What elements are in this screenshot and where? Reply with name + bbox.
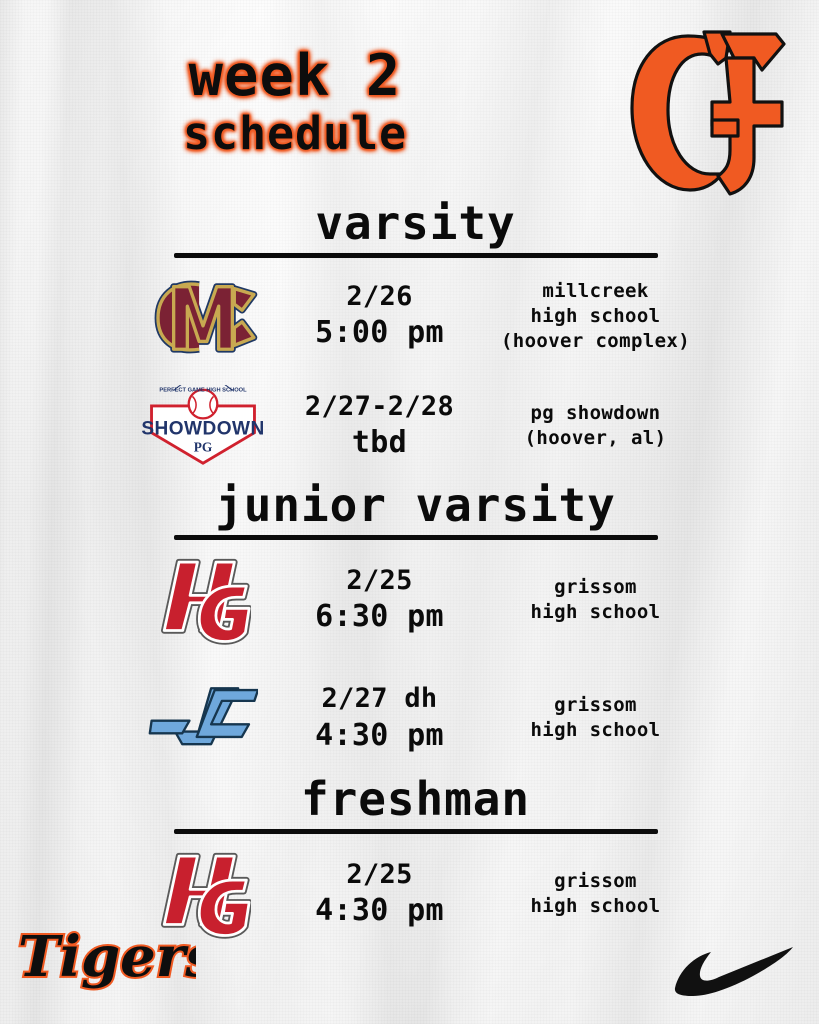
location-line: (hoover complex): [495, 329, 697, 354]
tigers-wordmark: Tigers: [6, 914, 196, 998]
game-datetime: 2/27-2/28 tbd: [269, 390, 491, 462]
game-time: 6:30 pm: [269, 598, 491, 636]
location-line: grissom: [495, 693, 697, 718]
section-title-freshman: freshman: [0, 772, 819, 826]
svg-text:SHOWDOWN: SHOWDOWN: [142, 419, 264, 440]
game-time: 4:30 pm: [269, 717, 491, 755]
location-line: high school: [495, 600, 697, 625]
location-line: high school: [495, 304, 697, 329]
location-line: millcreek: [495, 279, 697, 304]
game-datetime: 2/26 5:00 pm: [269, 280, 491, 352]
section-junior-varsity: junior varsity: [0, 478, 819, 766]
tigers-wordmark-text: Tigers: [18, 924, 196, 990]
section-divider: [174, 535, 658, 540]
grissom-g-logo: [626, 24, 791, 199]
svg-text:PERFECT GAME HIGH SCHOOL: PERFECT GAME HIGH SCHOOL: [159, 388, 247, 394]
svg-text:PG: PG: [193, 440, 212, 455]
title-week: week 2: [0, 46, 590, 106]
game-datetime: 2/27 dh 4:30 pm: [269, 681, 491, 755]
game-date: 2/25: [269, 564, 491, 598]
game-location: grissom high school: [491, 869, 697, 919]
section-divider: [174, 253, 658, 258]
section-title-junior-varsity: junior varsity: [0, 478, 819, 532]
game-date: 2/26: [269, 280, 491, 314]
game-row: 2/25 4:30 pm grissom high school: [123, 846, 697, 942]
section-title-varsity: varsity: [0, 196, 819, 250]
game-date: 2/27 dh: [269, 681, 491, 717]
game-datetime: 2/25 4:30 pm: [269, 858, 491, 930]
game-datetime: 2/25 6:30 pm: [269, 564, 491, 636]
game-time: 4:30 pm: [269, 892, 491, 930]
location-line: high school: [495, 718, 697, 743]
game-location: millcreek high school (hoover complex): [491, 279, 697, 354]
game-location: pg showdown (hoover, al): [491, 401, 697, 451]
location-line: pg showdown: [495, 401, 697, 426]
millcreek-mc-logo: [137, 268, 269, 364]
location-line: high school: [495, 894, 697, 919]
game-row: 2/27 dh 4:30 pm grissom high school: [123, 670, 697, 766]
hg-logo: [137, 552, 269, 648]
game-location: grissom high school: [491, 693, 697, 743]
game-date: 2/27-2/28: [269, 390, 491, 424]
game-row: 2/25 6:30 pm grissom high school: [123, 552, 697, 648]
section-divider: [174, 829, 658, 834]
schedule-poster: week 2 schedule varsity: [0, 0, 819, 1024]
jc-logo: [137, 670, 269, 766]
location-line: grissom: [495, 575, 697, 600]
game-row: 2/26 5:00 pm millcreek high school (hoov…: [123, 268, 697, 364]
game-time: 5:00 pm: [269, 314, 491, 352]
game-time: tbd: [269, 424, 491, 462]
title-schedule: schedule: [0, 108, 590, 160]
game-row: PERFECT GAME HIGH SCHOOL SHOWDOWN PG 2/2…: [123, 378, 697, 474]
section-varsity: varsity: [0, 196, 819, 474]
pg-showdown-logo: PERFECT GAME HIGH SCHOOL SHOWDOWN PG: [137, 378, 269, 474]
nike-swoosh-logo: [669, 944, 797, 996]
location-line: grissom: [495, 869, 697, 894]
game-date: 2/25: [269, 858, 491, 892]
location-line: (hoover, al): [495, 426, 697, 451]
page-title: week 2 schedule: [0, 46, 590, 160]
game-location: grissom high school: [491, 575, 697, 625]
